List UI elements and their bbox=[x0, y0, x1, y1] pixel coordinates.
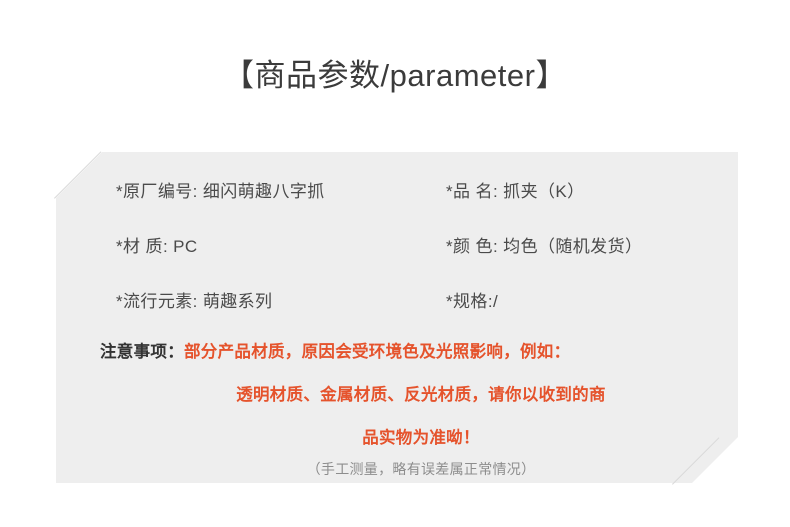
product-parameter-page: 【商品参数/parameter】 *原厂编号: 细闪萌趣八字抓 *品 名: 抓夹… bbox=[0, 0, 790, 527]
spec-factory-code: *原厂编号: 细闪萌趣八字抓 bbox=[116, 179, 325, 205]
notice-line-2: 透明材质、金属材质、反光材质，请你以收到的商 bbox=[56, 383, 738, 407]
spec-specification: *规格:/ bbox=[446, 289, 498, 315]
notice-label: 注意事项： bbox=[100, 343, 184, 361]
spec-trend-element: *流行元素: 萌趣系列 bbox=[116, 289, 272, 315]
notice-line-1: 注意事项：部分产品材质，原因会受环境色及光照影响，例如： bbox=[56, 340, 738, 364]
spec-list: *原厂编号: 细闪萌趣八字抓 *品 名: 抓夹（K） *材 质: PC *颜 色… bbox=[56, 152, 738, 332]
page-title: 【商品参数/parameter】 bbox=[223, 56, 567, 96]
page-title-wrap: 【商品参数/parameter】 bbox=[0, 56, 790, 96]
notice-footnote: （手工测量，略有误差属正常情况） bbox=[56, 458, 738, 480]
spec-row: *材 质: PC *颜 色: 均色（随机发货） bbox=[56, 234, 738, 260]
spec-material: *材 质: PC bbox=[116, 234, 198, 260]
spec-color: *颜 色: 均色（随机发货） bbox=[446, 234, 642, 260]
notice-text-1: 部分产品材质，原因会受环境色及光照影响，例如： bbox=[184, 343, 570, 361]
spec-product-name: *品 名: 抓夹（K） bbox=[446, 179, 585, 205]
notice-line-3: 品实物为准呦！ bbox=[56, 426, 738, 450]
spec-row: *原厂编号: 细闪萌趣八字抓 *品 名: 抓夹（K） bbox=[56, 179, 738, 205]
spec-row: *流行元素: 萌趣系列 *规格:/ bbox=[56, 289, 738, 315]
